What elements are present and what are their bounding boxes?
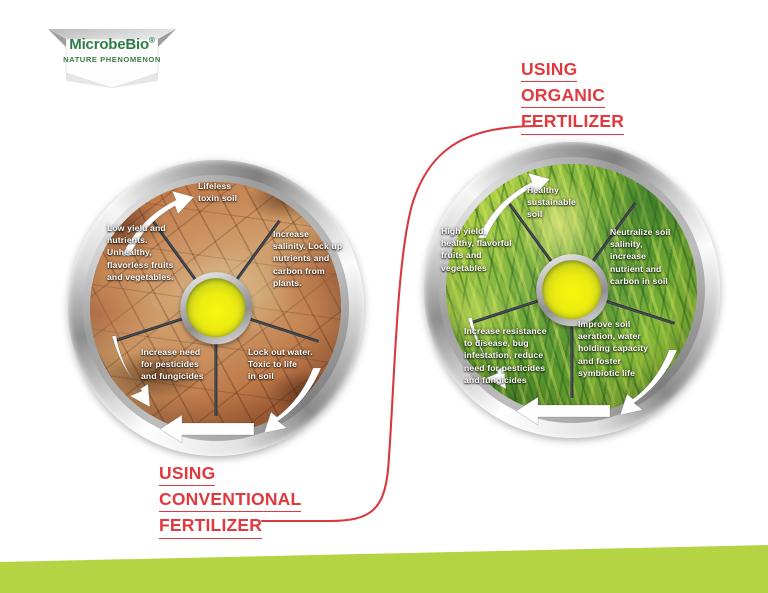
organic-segment-label-top: Healthy sustainable soil: [527, 184, 599, 221]
wheel-hub-core: [187, 279, 246, 338]
heading-organic-line-3: FERTILIZER: [521, 110, 624, 134]
heading-organic-line-1: USING: [521, 58, 577, 82]
wheel-disc-soil: [90, 182, 341, 433]
organic-segment-label-right: Neutralize soil salinity, increase nutri…: [610, 226, 694, 287]
wheel-hub-core: [543, 261, 602, 320]
conventional-segment-label-bottom-right: Lock out water. Toxic to life in soil: [248, 346, 322, 383]
conventional-segment-label-right: Increase salinity. Lock up nutrients and…: [273, 228, 355, 289]
heading-conventional-line-2: CONVENTIONAL: [159, 488, 301, 512]
logo-name: MicrobeBio®: [42, 36, 182, 53]
heading-organic-line-2: ORGANIC: [521, 84, 605, 108]
heading-using-organic-fertilizer: USING ORGANIC FERTILIZER: [521, 58, 624, 137]
conventional-segment-label-bottom-left: Increase need for pesticides and fungici…: [141, 346, 227, 383]
logo-tagline: NATURE PHENOMENON: [42, 55, 182, 64]
heading-using-conventional-fertilizer: USING CONVENTIONAL FERTILIZER: [159, 462, 301, 541]
logo: MicrobeBio® NATURE PHENOMENON: [42, 26, 182, 98]
heading-conventional-line-3: FERTILIZER: [159, 514, 262, 538]
conventional-segment-label-left: Low yield and nutrients. Unhealthy, flav…: [107, 222, 195, 283]
organic-segment-label-bottom-right: Improve soil aeration, water holding cap…: [578, 318, 658, 379]
wheel-hub-ring: [536, 254, 608, 326]
infographic-canvas: MicrobeBio® NATURE PHENOMENON: [0, 0, 768, 593]
organic-segment-label-bottom-left: Increase resistance to disease, bug infe…: [464, 325, 568, 386]
conventional-segment-label-top: Lifeless toxin soil: [198, 180, 272, 204]
logo-trademark: ®: [149, 36, 155, 45]
heading-conventional-line-1: USING: [159, 462, 215, 486]
logo-name-text: MicrobeBio: [69, 36, 149, 53]
organic-segment-label-left: High yield, healthy, flavorful fruits an…: [441, 225, 531, 274]
